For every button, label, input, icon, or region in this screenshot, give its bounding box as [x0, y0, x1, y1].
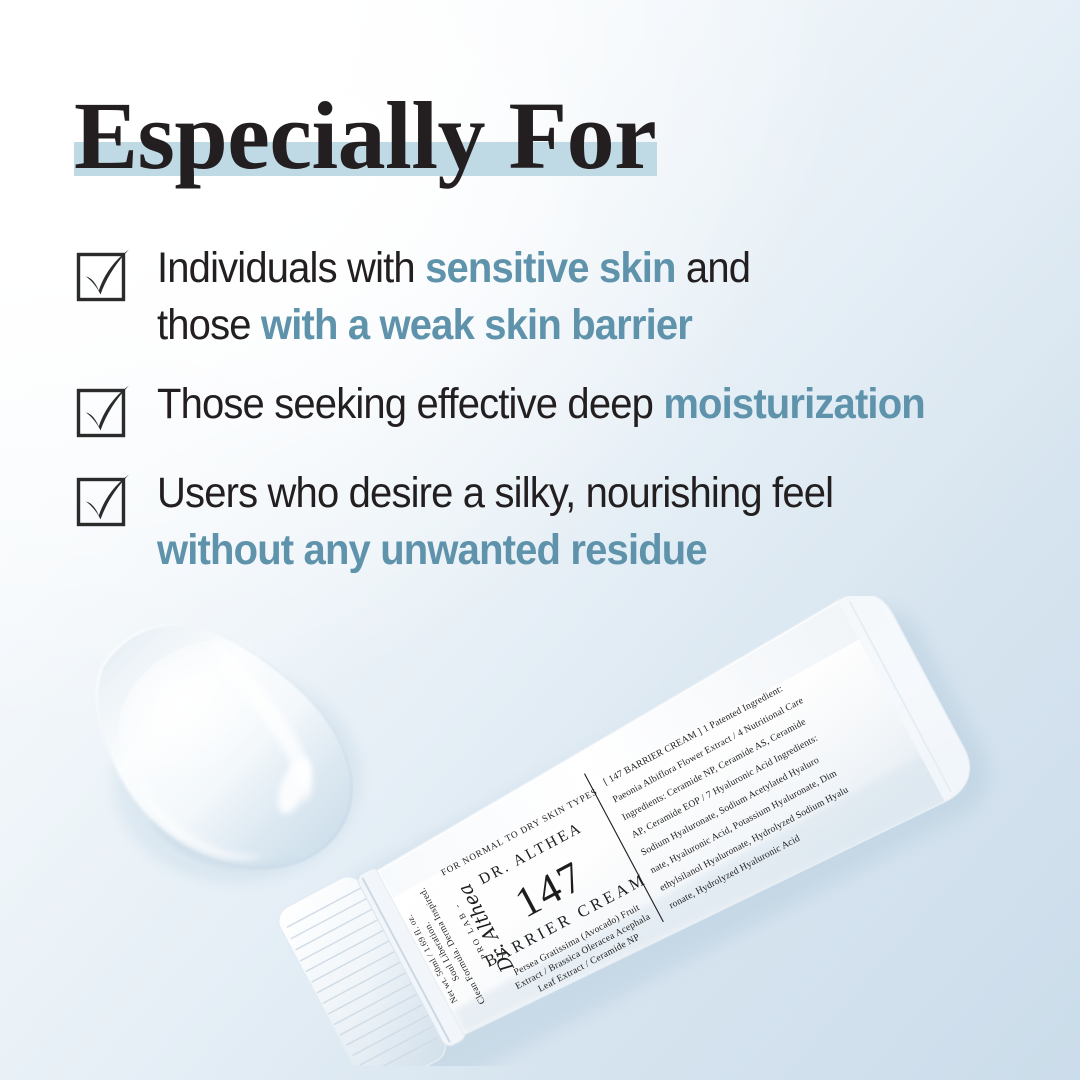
list-item: Individuals with sensitive skin and thos… — [76, 240, 795, 354]
text-highlight: moisturization — [663, 380, 925, 428]
text-highlight: with a weak skin barrier — [261, 301, 692, 349]
barrier-cream-tube: FOR NORMAL TO DRY SKIN TYPES DR. ALTHEA … — [232, 596, 1032, 1066]
list-item-line: those with a weak skin barrier — [157, 297, 750, 354]
text-plain: Those seeking effective deep — [157, 380, 663, 428]
list-item-line: Users who desire a silky, nourishing fee… — [157, 465, 833, 522]
list-item-text: Individuals with sensitive skin and thos… — [157, 240, 750, 354]
marketing-slide: Especially For Individuals with sensitiv… — [0, 0, 1080, 1080]
text-plain: those — [157, 301, 261, 349]
list-item-text: Users who desire a silky, nourishing fee… — [157, 465, 833, 579]
text-highlight: without any unwanted residue — [157, 526, 707, 574]
list-item-text: Those seeking effective deep moisturizat… — [157, 376, 925, 433]
page-title: Especially For — [74, 86, 974, 196]
text-highlight: sensitive skin — [425, 244, 676, 292]
list-item-line: without any unwanted residue — [157, 522, 833, 579]
checkbox-checked-icon — [76, 471, 132, 527]
checkbox-checked-icon — [76, 246, 132, 302]
list-item-line: Individuals with sensitive skin and — [157, 240, 750, 297]
text-plain: and — [676, 244, 750, 292]
list-item-line: Those seeking effective deep moisturizat… — [157, 376, 925, 433]
text-plain: Individuals with — [157, 244, 425, 292]
list-item: Those seeking effective deep moisturizat… — [76, 376, 983, 438]
text-plain: Users who desire a silky, nourishing fee… — [157, 469, 833, 517]
checkbox-checked-icon — [76, 382, 132, 438]
title-text: Especially For — [74, 86, 656, 186]
list-item: Users who desire a silky, nourishing fee… — [76, 465, 884, 579]
